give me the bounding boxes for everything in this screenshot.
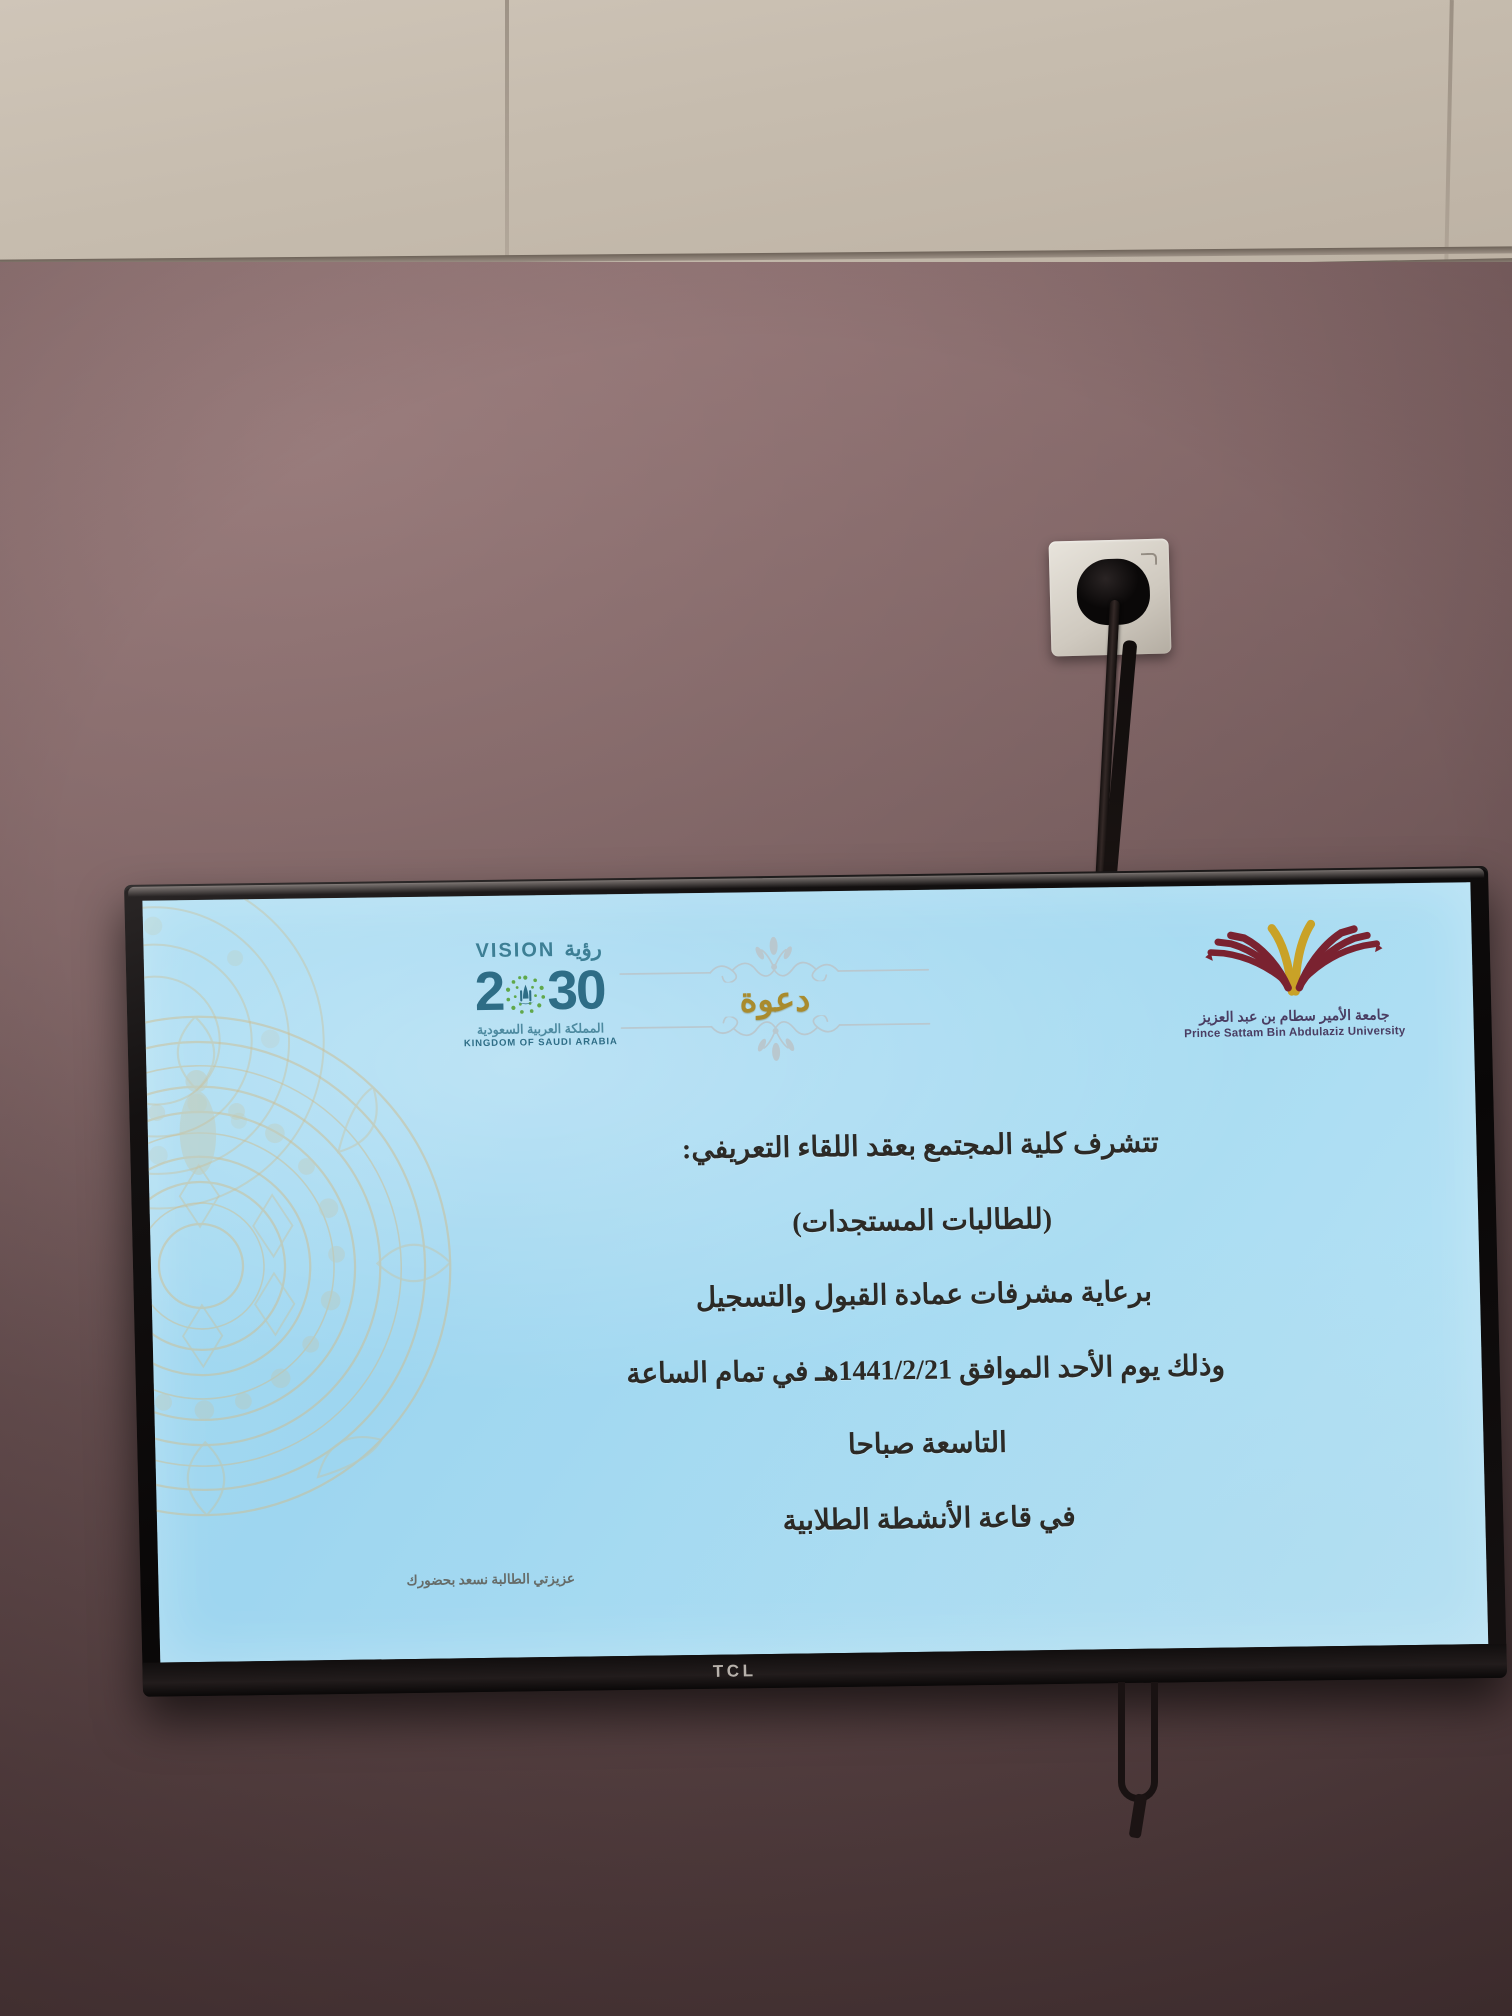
tcl-brand-logo: TCL: [713, 1661, 757, 1682]
ceiling: [0, 0, 1512, 268]
vision-subtitle-en: KINGDOM OF SAUDI ARABIA: [450, 1036, 632, 1048]
footer-note: عزيزتي الطالبة نسعد بحضورك: [406, 1571, 575, 1589]
invitation-body: تتشرف كلية المجتمع بعقد اللقاء التعريفي:…: [448, 1113, 1402, 1574]
body-line-2: (للطالبات المستجدات): [450, 1188, 1395, 1256]
vision-year-right: 30: [547, 962, 605, 1018]
university-name-ar: جامعة الأمير سطام بن عبد العزيز: [1169, 1006, 1419, 1026]
vision-subtitle-ar: المملكة العربية السعودية: [449, 1022, 631, 1037]
vision-word-en: VISION: [475, 939, 555, 960]
tv-screen: VISION رؤية 2: [142, 882, 1488, 1662]
body-line-5: التاسعة صباحا: [455, 1412, 1400, 1480]
body-line-6: في قاعة الأنشطة الطلابية: [457, 1486, 1402, 1554]
mandala-ornament-secondary-icon: [142, 882, 360, 1243]
flourish-top-icon: [613, 934, 934, 984]
vision-word-ar: رؤية: [564, 938, 602, 960]
body-line-1: تتشرف كلية المجتمع بعقد اللقاء التعريفي:: [448, 1113, 1393, 1181]
vision-2030-logo: VISION رؤية 2: [447, 938, 632, 1049]
vision-year-left: 2: [474, 964, 504, 1019]
open-book-logo-icon: [1187, 917, 1399, 1004]
room-photo: VISION رؤية 2: [0, 0, 1512, 2016]
body-line-3: برعاية مشرفات عمادة القبول والتسجيل: [451, 1262, 1396, 1330]
body-line-4: وذلك يوم الأحد الموافق 1441/2/21هـ في تم…: [453, 1337, 1398, 1405]
tv-bezel: VISION رؤية 2: [124, 866, 1507, 1697]
saudi-emblem-icon: [504, 973, 547, 1016]
university-logo: جامعة الأمير سطام بن عبد العزيز Prince S…: [1167, 917, 1420, 1040]
flourish-bottom-icon: [615, 1014, 936, 1064]
university-name-en: Prince Sattam Bin Abdulaziz University: [1170, 1025, 1420, 1040]
invitation-title-block: دعوة: [613, 934, 936, 1064]
hanging-cable: [1110, 1682, 1170, 1852]
television: VISION رؤية 2: [124, 866, 1507, 1697]
